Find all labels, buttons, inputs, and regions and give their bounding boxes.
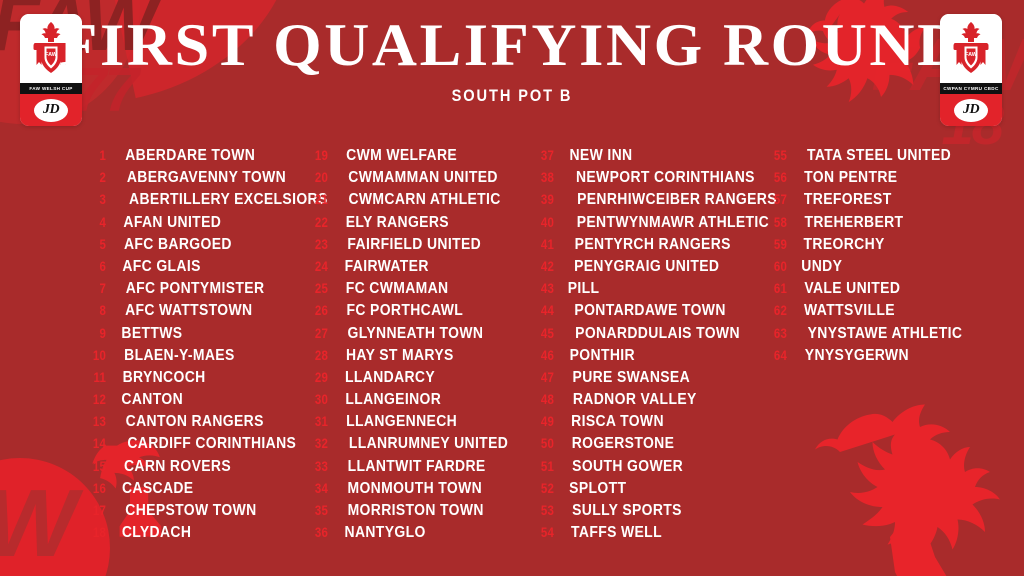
team-name: FC PORTHCAWL [346,300,463,322]
team-name: ABERTILLERY EXCELSIORS [129,189,328,211]
badge-band-right: CWPAN CYMRU CBDC [940,83,1002,94]
team-list-item: 3ABERTILLERY EXCELSIORS [86,188,308,210]
team-number: 3 [88,188,106,210]
team-name: PONARDDULAIS TOWN [575,323,740,345]
team-list-item: 45PONARDDULAIS TOWN [534,322,767,344]
team-name: NEWPORT CORINTHIANS [576,167,755,189]
team-list-item: 19CWM WELFARE [308,144,534,166]
team-name: LLANTWIT FARDRE [348,456,486,478]
team-list-item: 37NEW INN [534,144,767,166]
team-number: 20 [310,166,328,188]
team-number: 24 [310,255,328,277]
team-number: 6 [88,255,106,277]
team-number: 40 [536,211,554,233]
team-list-item: 16CASCADE [86,477,308,499]
team-name: TAFFS WELL [571,522,662,544]
team-list-item: 61VALE UNITED [767,277,967,299]
team-name: FC CWMAMAN [346,278,449,300]
team-name: AFC BARGOED [124,234,232,256]
team-name: CANTON RANGERS [126,411,264,433]
team-name: NEW INN [569,145,632,167]
team-number: 63 [769,322,787,344]
team-number: 28 [310,344,328,366]
team-list-item: 57TREFOREST [767,188,967,210]
team-list-item: 24FAIRWATER [308,255,534,277]
team-list-item: 51SOUTH GOWER [534,455,767,477]
team-number: 45 [536,322,554,344]
team-name: CARDIFF CORINTHIANS [127,433,296,455]
team-list-item: 44PONTARDAWE TOWN [534,299,767,321]
team-list-item: 9BETTWS [86,322,308,344]
team-name: LLANDARCY [345,367,435,389]
team-name: FAIRFIELD UNITED [347,234,481,256]
team-number: 18 [88,521,106,543]
team-list-item: 63YNYSTAWE ATHLETIC [767,322,967,344]
team-number: 53 [536,499,554,521]
team-list-item: 60UNDY [767,255,967,277]
team-number: 46 [536,344,554,366]
team-number: 21 [310,188,328,210]
team-list-item: 6AFC GLAIS [86,255,308,277]
team-list-item: 29LLANDARCY [308,366,534,388]
team-name: SULLY SPORTS [572,500,682,522]
team-list-item: 17CHEPSTOW TOWN [86,499,308,521]
team-name: FAIRWATER [345,256,429,278]
team-list-item: 2ABERGAVENNY TOWN [86,166,308,188]
graphic-canvas: FAW 77 FAW 18 W [0,0,1024,576]
team-name: LLANGEINOR [345,389,441,411]
team-name: NANTYGLO [345,522,426,544]
team-number: 25 [310,277,328,299]
team-list-item: 48RADNOR VALLEY [534,388,767,410]
team-number: 16 [88,477,106,499]
team-number: 57 [769,188,787,210]
team-number: 14 [88,432,106,454]
team-number: 7 [88,277,106,299]
team-name: UNDY [801,256,842,278]
team-name: CWMAMMAN UNITED [348,167,498,189]
team-number: 62 [769,299,787,321]
team-name: LLANGENNECH [346,411,457,433]
team-number: 1 [88,144,106,166]
team-number: 17 [88,499,106,521]
team-number: 19 [310,144,328,166]
team-name: PENRHIWCEIBER RANGERS [577,189,777,211]
team-name: CARN ROVERS [124,456,231,478]
page-subtitle: SOUTH POT B [72,86,953,106]
team-number: 36 [310,521,328,543]
team-number: 22 [310,211,328,233]
team-list-item: 8AFC WATTSTOWN [86,299,308,321]
team-list-item: 59TREORCHY [767,233,967,255]
team-number: 60 [769,255,787,277]
team-number: 26 [310,299,328,321]
team-name: TREHERBERT [804,212,903,234]
team-number: 55 [769,144,787,166]
team-number: 35 [310,499,328,521]
team-number: 13 [88,410,106,432]
team-list-item: 42PENYGRAIG UNITED [534,255,767,277]
team-column-2: 19CWM WELFARE20CWMAMMAN UNITED21CWMCARN … [308,144,534,543]
team-number: 30 [310,388,328,410]
team-name: BLAEN-Y-MAES [124,345,235,367]
team-number: 59 [769,233,787,255]
team-list-item: 31LLANGENNECH [308,410,534,432]
team-number: 9 [88,322,106,344]
team-list-item: 7AFC PONTYMISTER [86,277,308,299]
page-title: FIRST QUALIFYING ROUND [0,14,1024,76]
team-name: TON PENTRE [804,167,897,189]
team-list-item: 54TAFFS WELL [534,521,767,543]
team-name: TATA STEEL UNITED [807,145,951,167]
team-number: 29 [310,366,328,388]
team-name: CWM WELFARE [346,145,457,167]
team-list-item: 20CWMAMMAN UNITED [308,166,534,188]
team-list-item: 53SULLY SPORTS [534,499,767,521]
faw-crest-right: FAW [940,14,1002,83]
team-name: PENTYRCH RANGERS [575,234,731,256]
team-number: 10 [88,344,106,366]
team-name: RADNOR VALLEY [573,389,697,411]
team-number: 5 [88,233,106,255]
team-number: 52 [536,477,554,499]
team-name: TREORCHY [804,234,885,256]
team-name: VALE UNITED [804,278,900,300]
team-name: PILL [568,278,600,300]
svg-text:FAW: FAW [965,52,978,58]
team-list-item: 14CARDIFF CORINTHIANS [86,432,308,454]
faw-crest-icon: FAW [946,21,996,79]
team-name: RISCA TOWN [571,411,664,433]
team-number: 48 [536,388,554,410]
team-number: 56 [769,166,787,188]
team-name: WATTSVILLE [804,300,895,322]
header: FAW FAW WELSH CUP JD FIRST QUALIFYING RO… [0,0,1024,132]
jd-sponsor-right: JD [940,94,1002,126]
team-list-item: 50ROGERSTONE [534,432,767,454]
team-name: PURE SWANSEA [573,367,690,389]
team-list-item: 62WATTSVILLE [767,299,967,321]
team-name: ABERGAVENNY TOWN [127,167,286,189]
team-list-item: 55TATA STEEL UNITED [767,144,967,166]
team-number: 12 [88,388,106,410]
team-column-4: 55TATA STEEL UNITED56TON PENTRE57TREFORE… [767,144,967,543]
team-list-item: 22ELY RANGERS [308,211,534,233]
team-list-item: 10BLAEN-Y-MAES [86,344,308,366]
team-name: ABERDARE TOWN [125,145,255,167]
team-list-item: 33LLANTWIT FARDRE [308,455,534,477]
team-list-item: 11BRYNCOCH [86,366,308,388]
team-number: 2 [88,166,106,188]
team-list: 1ABERDARE TOWN2ABERGAVENNY TOWN3ABERTILL… [0,144,1024,543]
team-name: AFC PONTYMISTER [126,278,265,300]
team-name: ROGERSTONE [572,433,675,455]
team-name: SOUTH GOWER [572,456,683,478]
team-name: ELY RANGERS [346,212,449,234]
team-number: 49 [536,410,554,432]
team-number: 61 [769,277,787,299]
team-list-item: 58TREHERBERT [767,211,967,233]
team-list-item: 5AFC BARGOED [86,233,308,255]
team-number: 32 [310,432,328,454]
team-name: AFC WATTSTOWN [125,300,252,322]
team-list-item: 13CANTON RANGERS [86,410,308,432]
team-number: 15 [88,455,106,477]
team-name: YNYSTAWE ATHLETIC [808,323,963,345]
team-list-item: 34MONMOUTH TOWN [308,477,534,499]
team-name: PONTARDAWE TOWN [574,300,725,322]
team-list-item: 30LLANGEINOR [308,388,534,410]
team-number: 33 [310,455,328,477]
jd-logo: JD [954,99,988,122]
team-number: 23 [310,233,328,255]
team-list-item: 1ABERDARE TOWN [86,144,308,166]
team-name: AFAN UNITED [123,212,221,234]
team-list-item: 21CWMCARN ATHLETIC [308,188,534,210]
team-number: 44 [536,299,554,321]
team-list-item: 41PENTYRCH RANGERS [534,233,767,255]
team-number: 64 [769,344,787,366]
team-name: AFC GLAIS [122,256,200,278]
team-number: 47 [536,366,554,388]
team-name: MONMOUTH TOWN [347,478,482,500]
team-list-item: 43PILL [534,277,767,299]
team-column-1: 1ABERDARE TOWN2ABERGAVENNY TOWN3ABERTILL… [86,144,308,543]
team-number: 11 [88,366,106,388]
team-list-item: 46PONTHIR [534,344,767,366]
team-list-item: 40PENTWYNMAWR ATHLETIC [534,211,767,233]
team-number: 4 [88,211,106,233]
team-number: 39 [536,188,554,210]
faw-welsh-cup-badge-right: FAW CWPAN CYMRU CBDC JD [940,14,1002,126]
team-number: 43 [536,277,554,299]
team-name: CLYDACH [122,522,191,544]
team-name: GLYNNEATH TOWN [348,323,484,345]
team-number: 27 [310,322,328,344]
team-name: BRYNCOCH [123,367,206,389]
team-list-item: 27GLYNNEATH TOWN [308,322,534,344]
team-number: 54 [536,521,554,543]
team-number: 58 [769,211,787,233]
team-name: CASCADE [122,478,194,500]
team-name: YNYSYGERWN [805,345,909,367]
team-list-item: 4AFAN UNITED [86,211,308,233]
team-list-item: 56TON PENTRE [767,166,967,188]
team-list-item: 64YNYSYGERWN [767,344,967,366]
team-list-item: 26FC PORTHCAWL [308,299,534,321]
team-list-item: 32LLANRUMNEY UNITED [308,432,534,454]
team-number: 51 [536,455,554,477]
team-name: SPLOTT [569,478,626,500]
team-list-item: 47PURE SWANSEA [534,366,767,388]
team-list-item: 49RISCA TOWN [534,410,767,432]
team-name: PONTHIR [570,345,635,367]
team-number: 37 [536,144,554,166]
team-name: HAY ST MARYS [346,345,454,367]
team-name: LLANRUMNEY UNITED [349,433,508,455]
team-number: 8 [88,299,106,321]
team-list-item: 35MORRISTON TOWN [308,499,534,521]
team-list-item: 25FC CWMAMAN [308,277,534,299]
team-list-item: 36NANTYGLO [308,521,534,543]
team-name: CHEPSTOW TOWN [125,500,256,522]
team-name: CANTON [121,389,183,411]
team-number: 38 [536,166,554,188]
team-column-3: 37NEW INN38NEWPORT CORINTHIANS39PENRHIWC… [534,144,767,543]
jd-logo: JD [34,99,68,122]
team-number: 41 [536,233,554,255]
team-number: 50 [536,432,554,454]
team-name: PENTWYNMAWR ATHLETIC [577,212,769,234]
team-list-item: 15CARN ROVERS [86,455,308,477]
team-name: TREFOREST [804,189,892,211]
team-list-item: 18CLYDACH [86,521,308,543]
team-name: PENYGRAIG UNITED [574,256,719,278]
team-list-item: 23FAIRFIELD UNITED [308,233,534,255]
team-list-item: 28HAY ST MARYS [308,344,534,366]
team-name: MORRISTON TOWN [348,500,484,522]
team-number: 42 [536,255,554,277]
team-number: 34 [310,477,328,499]
team-list-item: 38NEWPORT CORINTHIANS [534,166,767,188]
team-number: 31 [310,410,328,432]
team-list-item: 52SPLOTT [534,477,767,499]
team-name: BETTWS [121,323,182,345]
team-name: CWMCARN ATHLETIC [348,189,500,211]
team-list-item: 39PENRHIWCEIBER RANGERS [534,188,767,210]
team-list-item: 12CANTON [86,388,308,410]
